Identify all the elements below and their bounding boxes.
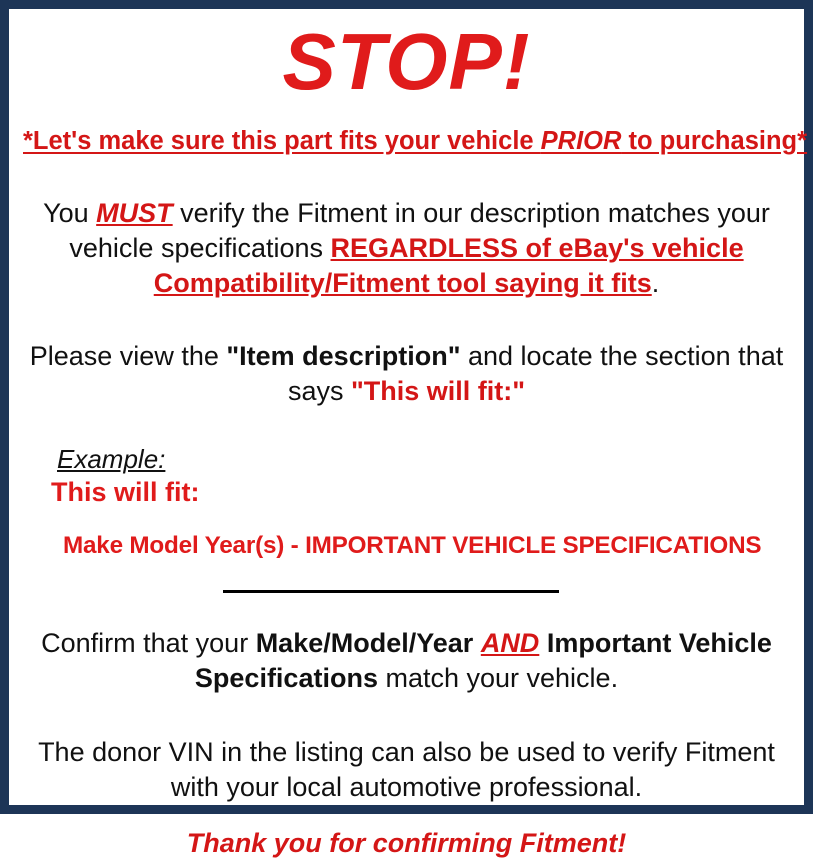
this-will-fit-quote: "This will fit:" bbox=[351, 376, 525, 406]
view-part1: Please view the bbox=[30, 341, 227, 371]
divider bbox=[23, 582, 790, 596]
confirm-space1 bbox=[473, 628, 481, 658]
subtitle-suffix: to purchasing* bbox=[621, 127, 807, 155]
subtitle-prefix: *Let's make sure this part fits your veh… bbox=[23, 127, 541, 155]
closing-thank-you: Thank you for confirming Fitment! bbox=[23, 827, 790, 859]
example-this-will-fit: This will fit: bbox=[51, 477, 790, 508]
fitment-notice-card: STOP! *Let's make sure this part fits yo… bbox=[0, 0, 813, 814]
vin-paragraph: The donor VIN in the listing can also be… bbox=[23, 735, 790, 805]
confirm-part1: Confirm that your bbox=[41, 628, 256, 658]
subtitle-emphasis-prior: PRIOR bbox=[541, 127, 622, 155]
example-fitment-line: Make Model Year(s) - IMPORTANT VEHICLE S… bbox=[63, 532, 783, 560]
example-block: Example: This will fit: Make Model Year(… bbox=[23, 445, 790, 560]
confirm-part2: match your vehicle. bbox=[378, 663, 618, 693]
must-part1: You bbox=[43, 198, 96, 228]
example-label: Example: bbox=[57, 445, 165, 475]
must-part3: . bbox=[652, 268, 660, 298]
divider-rule bbox=[223, 590, 559, 593]
view-description-paragraph: Please view the "Item description" and l… bbox=[23, 339, 790, 409]
confirm-space2 bbox=[539, 628, 547, 658]
confirm-paragraph: Confirm that your Make/Model/Year AND Im… bbox=[23, 626, 790, 696]
notice-content: STOP! *Let's make sure this part fits yo… bbox=[9, 9, 804, 805]
subtitle-line: *Let's make sure this part fits your veh… bbox=[23, 127, 790, 156]
confirm-bold-make-model-year: Make/Model/Year bbox=[256, 628, 474, 658]
must-emphasis: MUST bbox=[96, 198, 173, 228]
must-verify-paragraph: You MUST verify the Fitment in our descr… bbox=[23, 196, 790, 301]
and-emphasis: AND bbox=[481, 628, 540, 658]
example-label-row: Example: bbox=[57, 445, 790, 475]
item-description-quote: "Item description" bbox=[226, 341, 460, 371]
stop-heading: STOP! bbox=[23, 21, 790, 103]
